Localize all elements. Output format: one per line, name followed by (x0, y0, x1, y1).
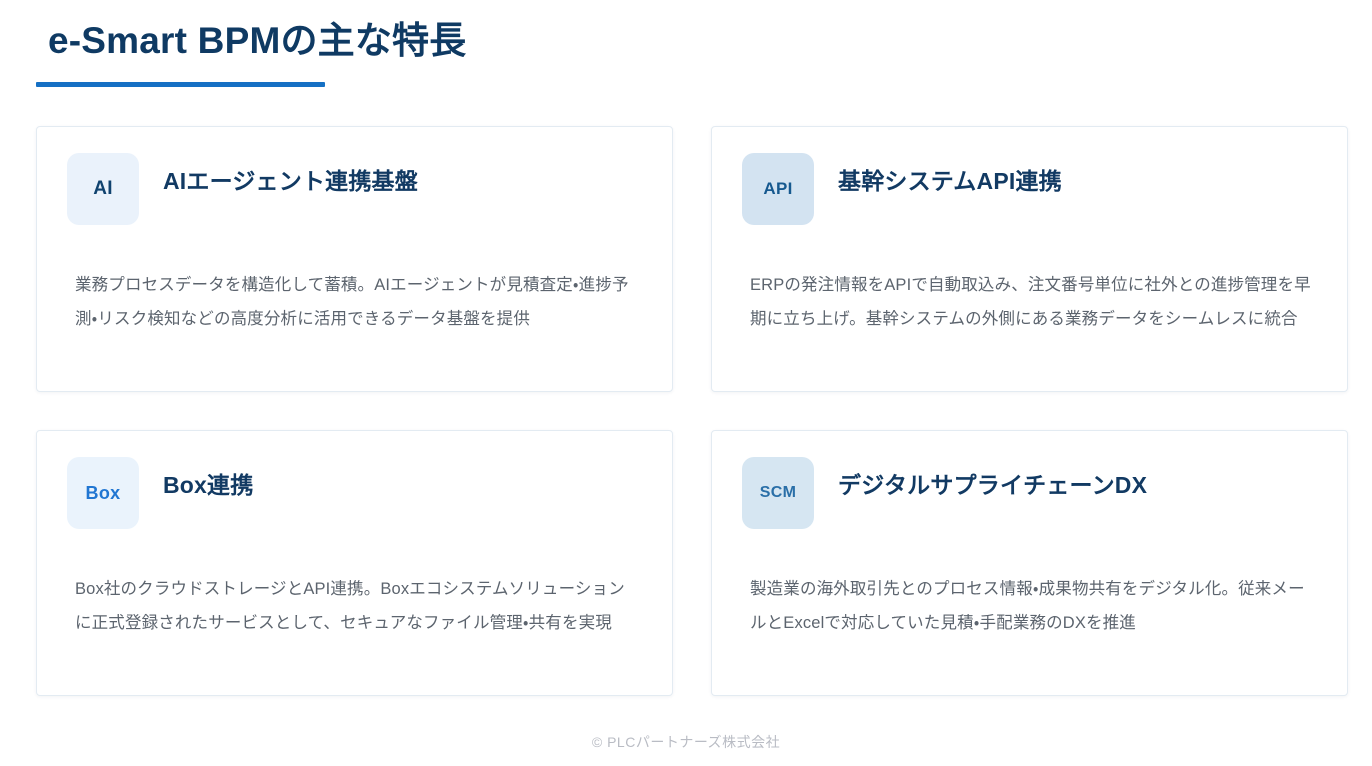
card-title: AIエージェント連携基盤 (163, 153, 418, 197)
feature-card-box[interactable]: Box Box連携 Box社のクラウドストレージとAPI連携。Boxエコシステム… (36, 430, 673, 696)
title-underline-rule (36, 82, 325, 87)
box-badge-icon: Box (67, 457, 139, 529)
ai-badge-icon: AI (67, 153, 139, 225)
card-title: デジタルサプライチェーンDX (838, 457, 1147, 501)
card-body-text: 製造業の海外取引先とのプロセス情報・成果物共有をデジタル化。従来メールとExce… (742, 537, 1317, 641)
card-header: API 基幹システムAPI連携 (742, 153, 1317, 233)
api-badge-icon: API (742, 153, 814, 225)
card-body-text: 業務プロセスデータを構造化して蓄積。AIエージェントが見積査定・進捗予測・リスク… (67, 233, 642, 337)
feature-card-scm[interactable]: SCM デジタルサプライチェーンDX 製造業の海外取引先とのプロセス情報・成果物… (711, 430, 1348, 696)
footer-copyright: © PLCパートナーズ株式会社 (0, 732, 1372, 752)
card-title: Box連携 (163, 457, 253, 501)
card-title: 基幹システムAPI連携 (838, 153, 1062, 197)
scm-badge-icon: SCM (742, 457, 814, 529)
feature-card-api[interactable]: API 基幹システムAPI連携 ERPの発注情報をAPIで自動取込み、注文番号単… (711, 126, 1348, 392)
card-header: AI AIエージェント連携基盤 (67, 153, 642, 233)
feature-card-ai[interactable]: AI AIエージェント連携基盤 業務プロセスデータを構造化して蓄積。AIエージェ… (36, 126, 673, 392)
page-title: e-Smart BPMの主な特長 (48, 18, 1328, 64)
slide-header: e-Smart BPMの主な特長 (48, 18, 1328, 87)
card-body-text: Box社のクラウドストレージとAPI連携。Boxエコシステムソリューションに正式… (67, 537, 642, 641)
feature-card-grid: AI AIエージェント連携基盤 業務プロセスデータを構造化して蓄積。AIエージェ… (36, 126, 1348, 696)
card-header: SCM デジタルサプライチェーンDX (742, 457, 1317, 537)
card-body-text: ERPの発注情報をAPIで自動取込み、注文番号単位に社外との進捗管理を早期に立ち… (742, 233, 1317, 337)
slide-root: e-Smart BPMの主な特長 AI AIエージェント連携基盤 業務プロセスデ… (0, 0, 1372, 766)
card-header: Box Box連携 (67, 457, 642, 537)
